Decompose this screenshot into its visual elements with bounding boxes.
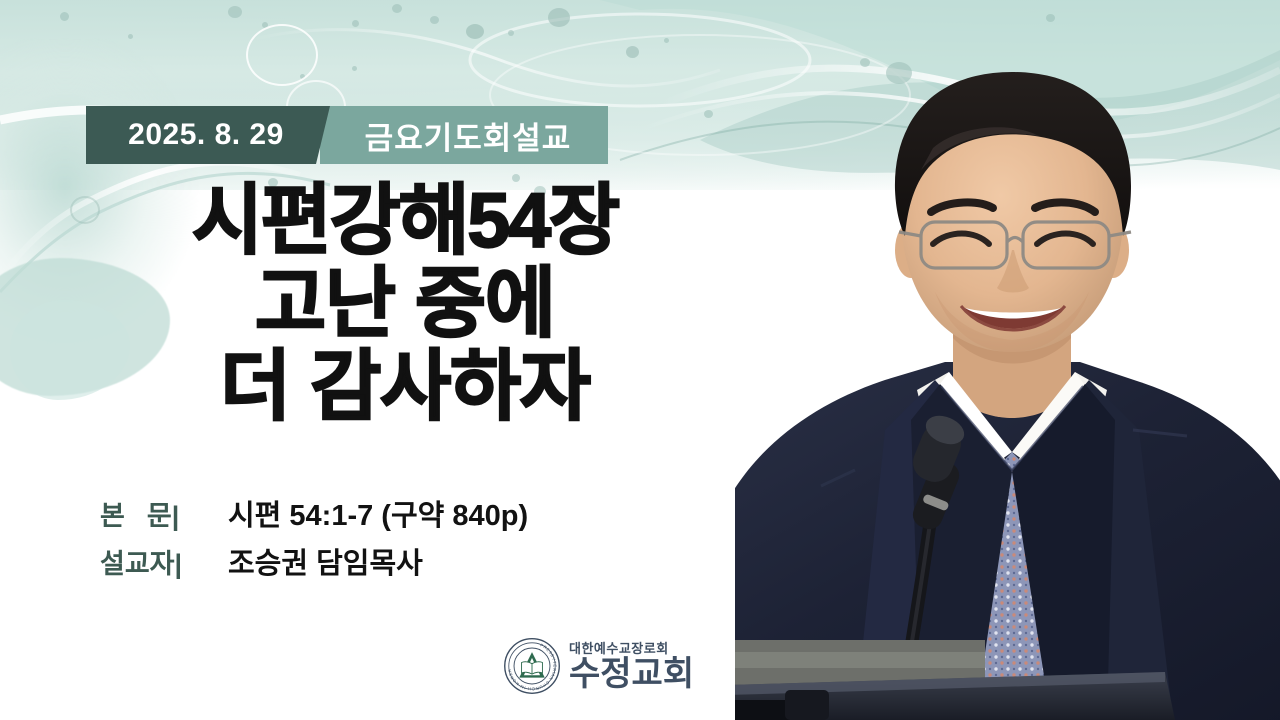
ring-mark bbox=[246, 24, 318, 86]
header-badges: 2025. 8. 29 금요기도회설교 bbox=[86, 106, 608, 164]
speckle bbox=[352, 66, 357, 71]
speckle bbox=[430, 16, 439, 24]
speckle bbox=[352, 20, 359, 27]
speckle bbox=[704, 110, 713, 118]
meta-row-preacher: 설교자| 조승권 담임목사 bbox=[100, 540, 528, 588]
speckle bbox=[392, 4, 402, 13]
date-badge: 2025. 8. 29 bbox=[86, 106, 330, 164]
speckle bbox=[664, 38, 669, 43]
sermon-title-card: 2025. 8. 29 금요기도회설교 시편강해54장 고난 중에 더 감사하자… bbox=[0, 0, 1280, 720]
speckle bbox=[548, 8, 570, 27]
service-title-banner: 금요기도회설교 bbox=[320, 106, 608, 164]
church-name: 수정교회 bbox=[569, 657, 694, 691]
sermon-meta: 본문| 시편 54:1-7 (구약 840p) 설교자| 조승권 담임목사 bbox=[100, 492, 528, 588]
speckle bbox=[262, 22, 268, 28]
church-emblem-icon: PRESBYTERIAN CHURCH IN KOREA bbox=[503, 637, 561, 695]
speckle bbox=[228, 6, 242, 18]
church-logo: PRESBYTERIAN CHURCH IN KOREA 대한예수교장로회 수정… bbox=[503, 637, 694, 695]
speckle bbox=[508, 30, 514, 36]
sermon-title-line-3: 더 감사하자 bbox=[60, 346, 750, 429]
speckle bbox=[128, 34, 133, 39]
denomination-name: 대한예수교장로회 bbox=[569, 642, 694, 655]
scripture-label: 본문| bbox=[100, 494, 228, 533]
meta-row-scripture: 본문| 시편 54:1-7 (구약 840p) bbox=[100, 492, 528, 540]
preacher-value: 조승권 담임목사 bbox=[228, 540, 423, 582]
sermon-title-line-1: 시편강해54장 bbox=[60, 180, 750, 263]
sermon-title: 시편강해54장 고난 중에 더 감사하자 bbox=[60, 180, 750, 429]
speckle bbox=[626, 46, 639, 58]
preacher-photo bbox=[735, 0, 1280, 720]
speckle bbox=[466, 24, 484, 39]
scripture-value: 시편 54:1-7 (구약 840p) bbox=[228, 492, 528, 534]
sermon-title-line-2: 고난 중에 bbox=[60, 263, 750, 346]
logo-text-block: 대한예수교장로회 수정교회 bbox=[569, 642, 694, 691]
speckle bbox=[300, 74, 305, 79]
speckle bbox=[60, 12, 69, 21]
preacher-illustration bbox=[735, 0, 1280, 720]
preacher-label: 설교자| bbox=[100, 542, 228, 581]
